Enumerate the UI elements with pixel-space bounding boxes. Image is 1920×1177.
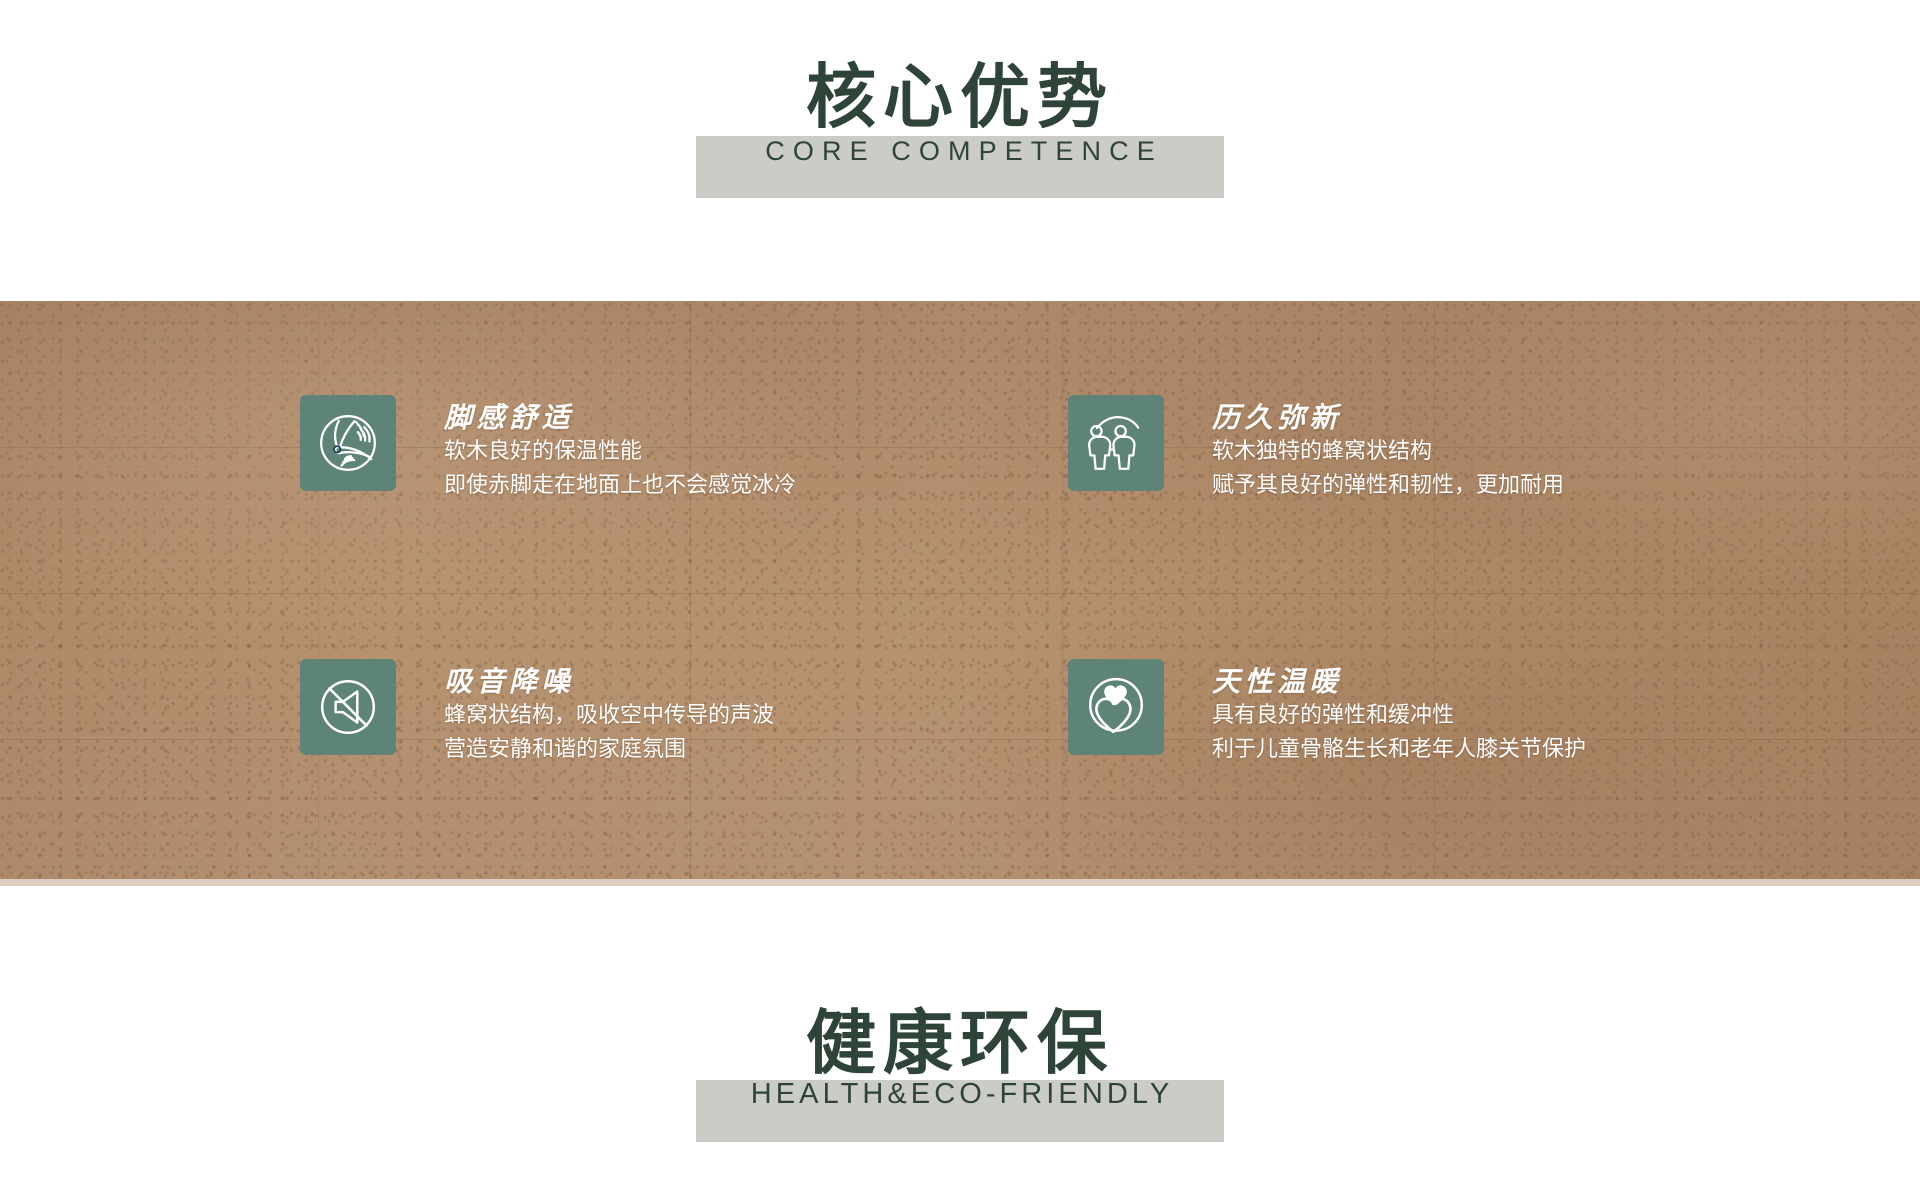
feature-desc-line-2: 即使赤脚走在地面上也不会感觉冰冷 [444,468,796,502]
feature-icon-tile [300,395,396,491]
feature-desc-line-1: 软木良好的保温性能 [444,434,796,468]
feature-title: 天性温暖 [1212,667,1586,698]
feature-grid: 脚感舒适 软木良好的保温性能 即使赤脚走在地面上也不会感觉冰冷 [0,301,1920,886]
feature-icon-tile [1068,395,1164,491]
feature-desc-line-1: 具有良好的弹性和缓冲性 [1212,698,1586,732]
feature-card[interactable]: 天性温暖 具有良好的弹性和缓冲性 利于儿童骨骼生长和老年人膝关节保护 [1068,659,1586,766]
foot-comfort-icon [315,410,381,476]
feature-text: 吸音降噪 蜂窝状结构，吸收空中传导的声波 营造安静和谐的家庭氛围 [444,659,774,766]
feature-desc-line-1: 软木独特的蜂窝状结构 [1212,434,1564,468]
feature-desc-line-2: 赋予其良好的弹性和韧性，更加耐用 [1212,468,1564,502]
feature-title: 吸音降噪 [444,667,774,698]
mute-speaker-icon [315,674,381,740]
feature-card[interactable]: 吸音降噪 蜂窝状结构，吸收空中传导的声波 营造安静和谐的家庭氛围 [300,659,774,766]
page-root: 核心优势 CORE COMPETENCE [0,0,1920,1177]
bottom-heading-title-en: HEALTH&ECO-FRIENDLY [747,1078,1174,1111]
top-section-heading: 核心优势 CORE COMPETENCE [0,62,1920,167]
cork-texture-banner: 脚感舒适 软木良好的保温性能 即使赤脚走在地面上也不会感觉冰冷 [0,301,1920,886]
feature-icon-tile [300,659,396,755]
double-heart-icon [1083,674,1149,740]
bottom-section-heading: 健康环保 HEALTH&ECO-FRIENDLY [0,1008,1920,1111]
bottom-heading-title-cn: 健康环保 [747,1008,1174,1078]
feature-text: 历久弥新 软木独特的蜂窝状结构 赋予其良好的弹性和韧性，更加耐用 [1212,395,1564,502]
bottom-heading-inner: 健康环保 HEALTH&ECO-FRIENDLY [747,1008,1174,1111]
feature-desc-line-2: 营造安静和谐的家庭氛围 [444,732,774,766]
top-heading-title-cn: 核心优势 [757,62,1163,132]
feature-desc-line-1: 蜂窝状结构，吸收空中传导的声波 [444,698,774,732]
feature-card[interactable]: 历久弥新 软木独特的蜂窝状结构 赋予其良好的弹性和韧性，更加耐用 [1068,395,1564,502]
feature-title: 历久弥新 [1212,403,1564,434]
feature-text: 脚感舒适 软木良好的保温性能 即使赤脚走在地面上也不会感觉冰冷 [444,395,796,502]
top-heading-inner: 核心优势 CORE COMPETENCE [757,62,1163,167]
people-holding-hands-icon [1083,410,1149,476]
feature-card[interactable]: 脚感舒适 软木良好的保温性能 即使赤脚走在地面上也不会感觉冰冷 [300,395,796,502]
feature-icon-tile [1068,659,1164,755]
feature-title: 脚感舒适 [444,403,796,434]
top-heading-title-en: CORE COMPETENCE [757,136,1163,167]
feature-desc-line-2: 利于儿童骨骼生长和老年人膝关节保护 [1212,732,1586,766]
feature-text: 天性温暖 具有良好的弹性和缓冲性 利于儿童骨骼生长和老年人膝关节保护 [1212,659,1586,766]
